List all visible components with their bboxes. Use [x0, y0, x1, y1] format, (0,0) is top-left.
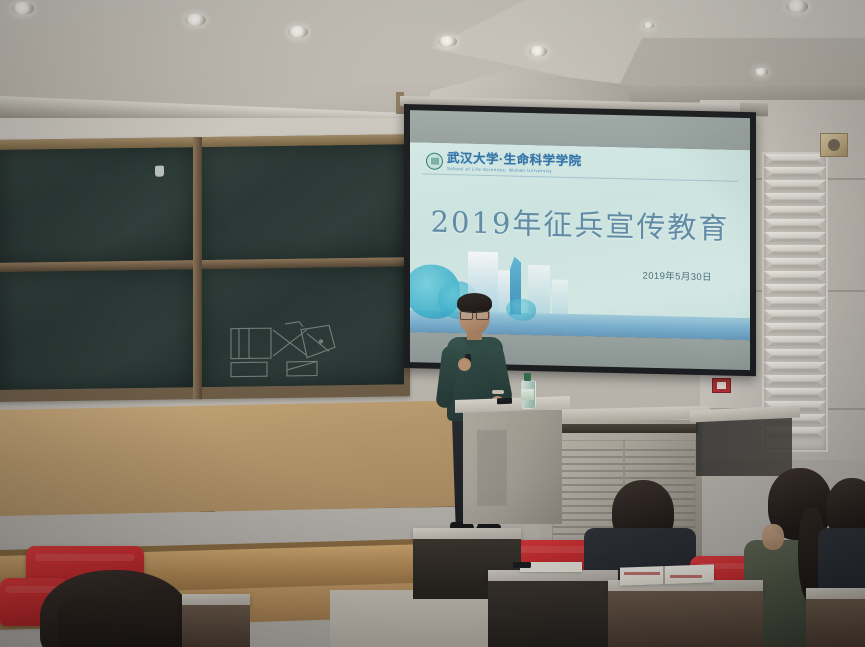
downlight-icon [786, 0, 808, 13]
lecture-hall-photo: 武汉大学·生命科学学院 School of Life Sciences, Wuh… [0, 0, 865, 647]
lectern-body [463, 409, 562, 524]
chalkboard-divider-vertical [193, 137, 202, 399]
book-red-marking [624, 572, 660, 575]
downlight-icon [185, 14, 206, 26]
phone-on-desk[interactable] [513, 562, 531, 568]
stage-platform [0, 400, 480, 516]
downlight-icon [754, 68, 768, 76]
lectern-side-panel [477, 430, 507, 506]
university-seal-icon [426, 153, 443, 170]
chalkboard-clip-icon [155, 166, 164, 177]
downlight-icon [12, 2, 34, 15]
presenter-hand-left [458, 358, 471, 371]
phone-on-lectern[interactable] [497, 398, 512, 405]
lectern[interactable] [455, 398, 570, 523]
water-bottle[interactable] [521, 373, 534, 407]
side-equipment-desk [690, 408, 800, 480]
wristwatch-icon [492, 390, 504, 394]
glasses-icon [460, 310, 489, 318]
water-bottle-cap [524, 373, 531, 381]
desk[interactable] [413, 528, 521, 542]
desk-front-panel [608, 591, 763, 647]
downlight-icon [643, 22, 654, 29]
speaker-icon [820, 133, 848, 157]
student-hair-strands [58, 596, 176, 647]
chalk-sketch [229, 317, 339, 385]
water-bottle-label [521, 389, 534, 400]
chalkboard-panel-top-left [0, 147, 193, 263]
slide-header-rule [422, 173, 738, 181]
desk[interactable] [182, 594, 250, 608]
downlight-icon [438, 36, 457, 47]
fire-alarm-icon[interactable] [712, 378, 731, 393]
desk[interactable] [806, 588, 865, 602]
desk-front-panel [806, 599, 865, 647]
slide-title: 2019年征兵宣传教育 [410, 198, 750, 248]
side-desk-body [696, 418, 792, 476]
student-neck [762, 524, 784, 550]
chalkboard-panel-bottom-left [0, 269, 193, 390]
book-red-marking [670, 575, 702, 578]
desk-front-panel [182, 605, 250, 647]
chalkboard [0, 134, 410, 402]
slide-institution-logo: 武汉大学·生命科学学院 School of Life Sciences, Wuh… [426, 152, 582, 175]
desk-understructure [488, 581, 618, 647]
downlight-icon [288, 26, 308, 38]
downlight-icon [529, 46, 547, 57]
chalkboard-panel-top-right [202, 144, 404, 260]
slide-art-building [552, 279, 568, 315]
